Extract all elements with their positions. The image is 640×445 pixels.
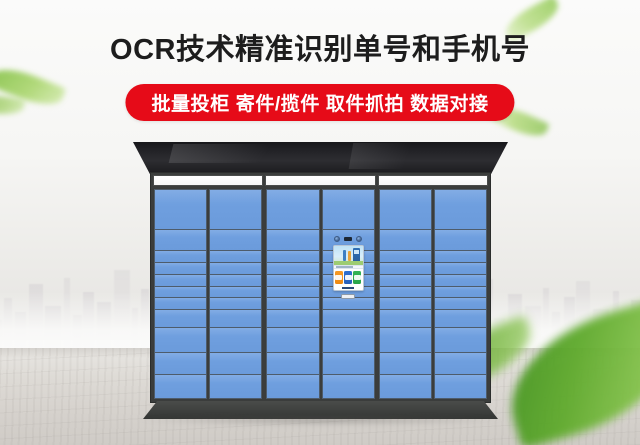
locker-door[interactable] bbox=[209, 328, 262, 353]
locker-bay-1 bbox=[153, 175, 263, 400]
locker-door[interactable] bbox=[154, 298, 207, 310]
locker-door[interactable] bbox=[322, 310, 375, 328]
locker-door[interactable] bbox=[379, 287, 432, 299]
bay-header-panel-3 bbox=[378, 175, 488, 186]
locker-door[interactable] bbox=[266, 287, 319, 299]
locker-door[interactable] bbox=[154, 353, 207, 375]
locker-bay-3 bbox=[378, 175, 488, 400]
bay-door-grid-1 bbox=[153, 188, 263, 400]
locker-door[interactable] bbox=[266, 275, 319, 287]
locker-door[interactable] bbox=[379, 298, 432, 310]
locker-door[interactable] bbox=[322, 298, 375, 310]
bay-header-panel-1 bbox=[153, 175, 263, 186]
cabinet-canopy bbox=[133, 142, 508, 174]
locker-door[interactable] bbox=[266, 230, 319, 251]
camera-icon-right bbox=[356, 236, 362, 242]
locker-door[interactable] bbox=[209, 287, 262, 299]
kiosk-terminal bbox=[332, 235, 364, 299]
locker-door[interactable] bbox=[379, 251, 432, 263]
screen-footer-bar bbox=[334, 286, 363, 290]
locker-door[interactable] bbox=[434, 287, 487, 299]
locker-door[interactable] bbox=[379, 328, 432, 353]
bay-door-grid-2 bbox=[265, 188, 375, 400]
card-slot-icon bbox=[341, 294, 355, 299]
canopy-highlight bbox=[168, 144, 308, 163]
canopy-highlight-2 bbox=[348, 143, 428, 169]
locker-door[interactable] bbox=[322, 189, 375, 230]
screen-button-2[interactable] bbox=[344, 271, 352, 284]
screen-button-glyph bbox=[354, 275, 361, 280]
locker-door[interactable] bbox=[209, 275, 262, 287]
locker-door[interactable] bbox=[434, 353, 487, 375]
locker-door[interactable] bbox=[266, 353, 319, 375]
locker-door[interactable] bbox=[209, 263, 262, 275]
bay-door-grid-3 bbox=[378, 188, 488, 400]
screen-button-3[interactable] bbox=[353, 271, 361, 284]
locker-door[interactable] bbox=[266, 310, 319, 328]
camera-icon-left bbox=[334, 236, 340, 242]
sensor-row bbox=[332, 235, 364, 243]
locker-door[interactable] bbox=[209, 353, 262, 375]
screen-button-1[interactable] bbox=[335, 271, 343, 284]
locker-door[interactable] bbox=[209, 251, 262, 263]
locker-door[interactable] bbox=[379, 189, 432, 230]
kiosk-touchscreen[interactable] bbox=[333, 245, 364, 291]
locker-door[interactable] bbox=[154, 287, 207, 299]
locker-door[interactable] bbox=[154, 230, 207, 251]
locker-door[interactable] bbox=[434, 263, 487, 275]
locker-door[interactable] bbox=[434, 230, 487, 251]
feature-pill-text: 批量投柜 寄件/揽件 取件抓拍 数据对接 bbox=[151, 89, 488, 116]
locker-door[interactable] bbox=[154, 375, 207, 399]
locker-door[interactable] bbox=[154, 251, 207, 263]
locker-door[interactable] bbox=[379, 310, 432, 328]
locker-door[interactable] bbox=[209, 298, 262, 310]
locker-column-2-2 bbox=[322, 189, 375, 399]
cabinet-body bbox=[150, 172, 491, 403]
locker-column-1-1 bbox=[154, 189, 207, 399]
locker-door[interactable] bbox=[434, 275, 487, 287]
locker-door[interactable] bbox=[266, 375, 319, 399]
barcode-scanner-icon bbox=[344, 237, 352, 241]
locker-door[interactable] bbox=[209, 189, 262, 230]
page-title: OCR技术精准识别单号和手机号 bbox=[0, 26, 640, 68]
locker-door[interactable] bbox=[266, 298, 319, 310]
locker-door[interactable] bbox=[154, 310, 207, 328]
screen-button-glyph bbox=[335, 275, 342, 280]
bay-header-panel-2 bbox=[265, 175, 375, 186]
locker-column-2-1 bbox=[266, 189, 319, 399]
locker-door[interactable] bbox=[209, 375, 262, 399]
locker-door[interactable] bbox=[266, 251, 319, 263]
locker-door[interactable] bbox=[434, 298, 487, 310]
locker-column-3-1 bbox=[379, 189, 432, 399]
locker-column-1-2 bbox=[209, 189, 262, 399]
screen-button-row bbox=[334, 269, 363, 286]
locker-door[interactable] bbox=[379, 375, 432, 399]
locker-door[interactable] bbox=[266, 263, 319, 275]
screen-hero-illustration bbox=[334, 246, 363, 265]
locker-door[interactable] bbox=[154, 263, 207, 275]
hero-grass bbox=[334, 261, 363, 265]
promo-banner: OCR技术精准识别单号和手机号 批量投柜 寄件/揽件 取件抓拍 数据对接 bbox=[0, 0, 640, 445]
locker-door[interactable] bbox=[322, 353, 375, 375]
screen-button-glyph bbox=[345, 275, 352, 280]
locker-door[interactable] bbox=[434, 328, 487, 353]
locker-door[interactable] bbox=[434, 310, 487, 328]
locker-door[interactable] bbox=[379, 353, 432, 375]
locker-door[interactable] bbox=[379, 263, 432, 275]
locker-door[interactable] bbox=[434, 375, 487, 399]
locker-door[interactable] bbox=[209, 310, 262, 328]
hero-person-icon-1 bbox=[343, 250, 346, 261]
locker-door[interactable] bbox=[379, 230, 432, 251]
smart-locker-cabinet bbox=[133, 142, 508, 427]
locker-door[interactable] bbox=[154, 275, 207, 287]
locker-door[interactable] bbox=[379, 275, 432, 287]
locker-column-3-2 bbox=[434, 189, 487, 399]
locker-door[interactable] bbox=[322, 328, 375, 353]
locker-door[interactable] bbox=[266, 189, 319, 230]
locker-bay-2 bbox=[265, 175, 375, 400]
locker-door[interactable] bbox=[154, 328, 207, 353]
locker-door[interactable] bbox=[434, 189, 487, 230]
cabinet-shadow bbox=[139, 416, 503, 426]
locker-door[interactable] bbox=[322, 375, 375, 399]
hero-person-icon-2 bbox=[348, 251, 351, 261]
feature-pill: 批量投柜 寄件/揽件 取件抓拍 数据对接 bbox=[125, 84, 514, 121]
locker-door[interactable] bbox=[266, 328, 319, 353]
locker-door[interactable] bbox=[434, 251, 487, 263]
locker-door[interactable] bbox=[154, 189, 207, 230]
locker-door[interactable] bbox=[209, 230, 262, 251]
